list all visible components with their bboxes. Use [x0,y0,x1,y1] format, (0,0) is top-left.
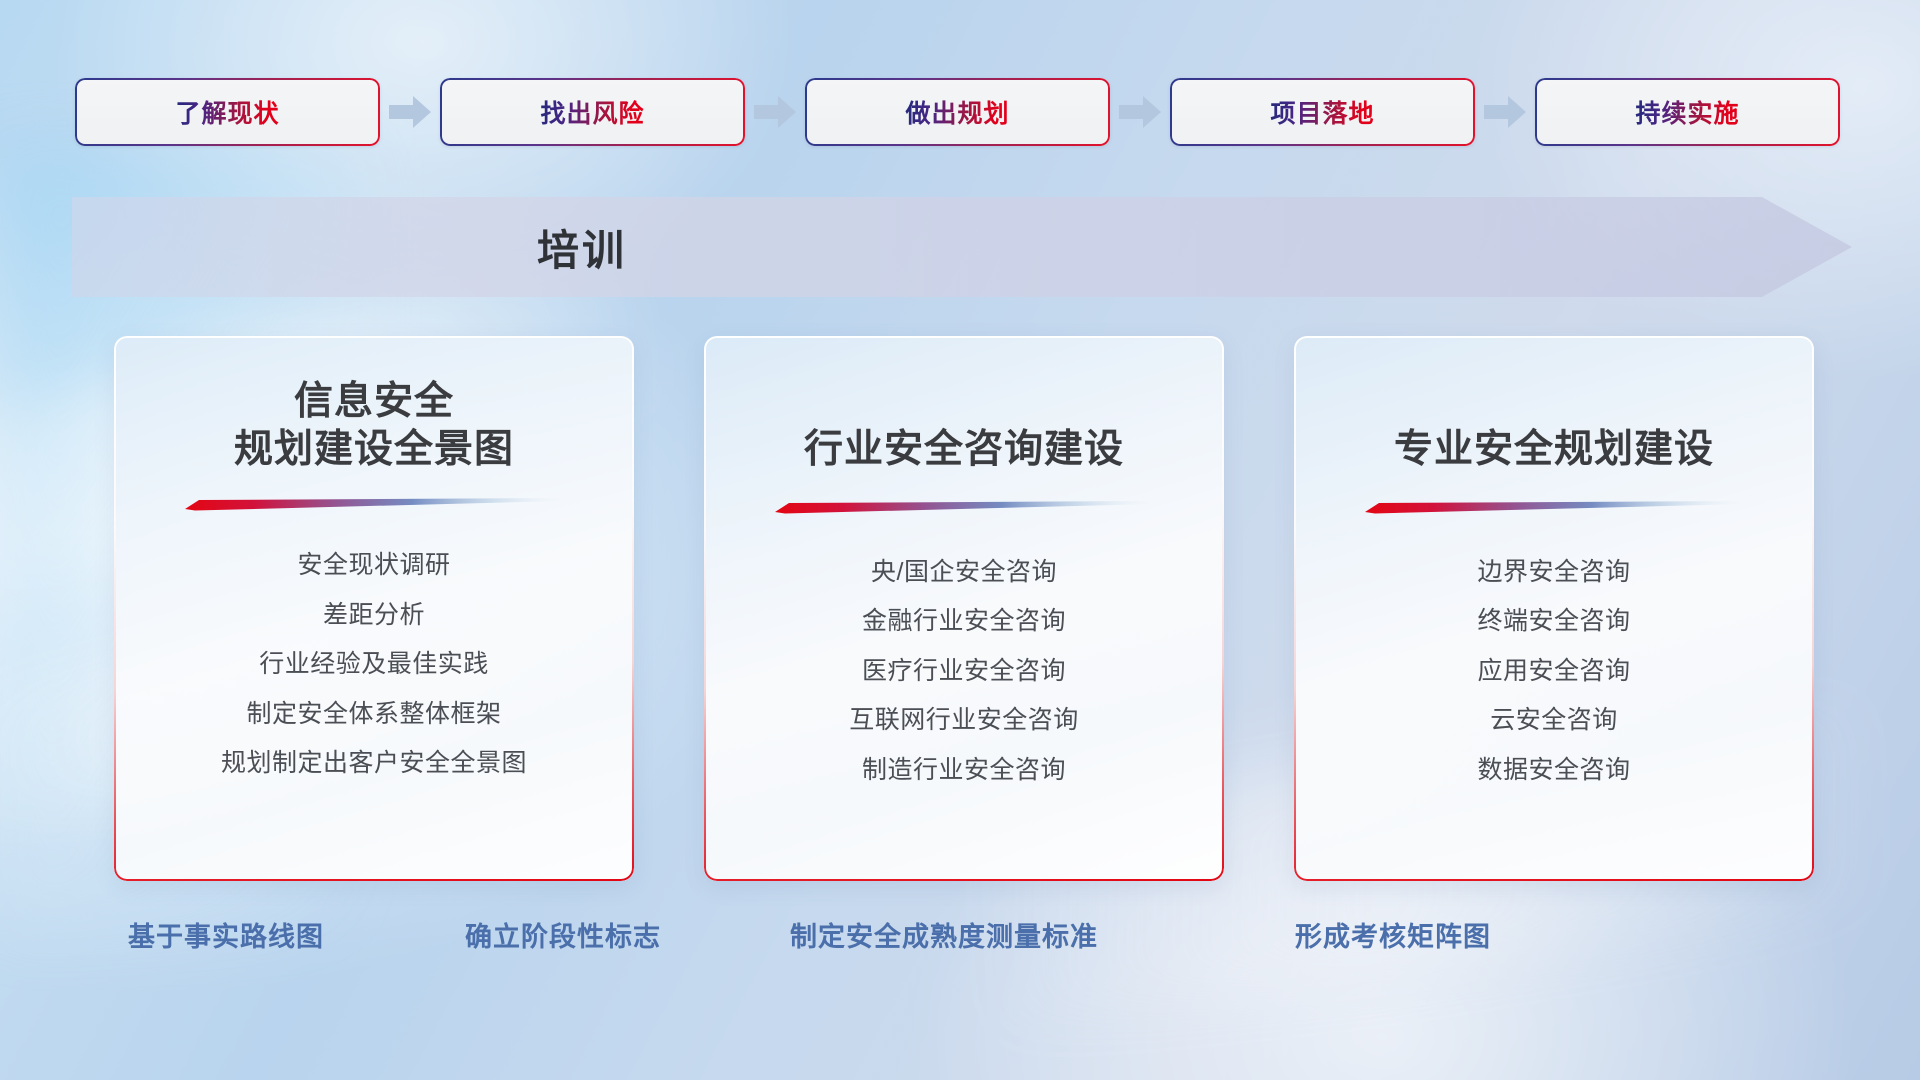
card-item-list: 央/国企安全咨询金融行业安全咨询医疗行业安全咨询互联网行业安全咨询制造行业安全咨… [730,552,1198,791]
card-inner: 行业安全咨询建设央/国企安全咨询金融行业安全咨询医疗行业安全咨询互联网行业安全咨… [704,336,1224,881]
step-label: 了解现状 [175,94,279,130]
right-arrow-icon [1484,96,1526,128]
card-title: 行业安全咨询建设 [804,378,1124,474]
right-arrow-icon [1119,96,1161,128]
step-box-4[interactable]: 项目落地 [1170,78,1475,146]
card-inner: 专业安全规划建设边界安全咨询终端安全咨询应用安全咨询云安全咨询数据安全咨询 [1294,336,1814,881]
card-2[interactable]: 行业安全咨询建设央/国企安全咨询金融行业安全咨询医疗行业安全咨询互联网行业安全咨… [704,336,1224,881]
list-item: 差距分析 [323,595,425,636]
card-item-list: 安全现状调研差距分析行业经验及最佳实践制定安全体系整体框架规划制定出客户安全全景… [140,545,608,784]
card-divider [1365,500,1743,514]
list-item: 行业经验及最佳实践 [259,644,489,685]
list-item: 医疗行业安全咨询 [862,651,1066,692]
step-label: 做出规划 [905,94,1009,130]
list-item: 央/国企安全咨询 [871,552,1057,593]
caption-1: 基于事实路线图 [128,915,324,954]
card-divider [185,497,563,511]
step-arrow-4 [1475,78,1535,146]
card-title: 专业安全规划建设 [1394,378,1714,474]
step-label: 持续实施 [1635,94,1739,130]
card-spacer [1224,336,1294,881]
card-divider [775,500,1153,514]
step-label: 找出风险 [540,94,644,130]
list-item: 云安全咨询 [1490,700,1618,741]
card-spacer [634,336,704,881]
list-item: 互联网行业安全咨询 [849,700,1079,741]
step-box-5[interactable]: 持续实施 [1535,78,1840,146]
gradient-rule-icon [185,497,563,511]
card-inner: 信息安全 规划建设全景图安全现状调研差距分析行业经验及最佳实践制定安全体系整体框… [114,336,634,881]
step-arrow-3 [1110,78,1170,146]
step-label: 项目落地 [1270,94,1374,130]
card-1[interactable]: 信息安全 规划建设全景图安全现状调研差距分析行业经验及最佳实践制定安全体系整体框… [114,336,634,881]
caption-2: 确立阶段性标志 [465,915,661,954]
caption-row: 基于事实路线图确立阶段性标志制定安全成熟度测量标准形成考核矩阵图 [0,915,1920,967]
list-item: 金融行业安全咨询 [862,601,1066,642]
card-3[interactable]: 专业安全规划建设边界安全咨询终端安全咨询应用安全咨询云安全咨询数据安全咨询 [1294,336,1814,881]
process-step-flow: 了解现状找出风险做出规划项目落地持续实施 [75,78,1850,146]
card-item-list: 边界安全咨询终端安全咨询应用安全咨询云安全咨询数据安全咨询 [1320,552,1788,791]
step-arrow-2 [745,78,805,146]
step-box-2[interactable]: 找出风险 [440,78,745,146]
caption-3: 制定安全成熟度测量标准 [790,915,1098,954]
step-arrow-1 [380,78,440,146]
step-box-1[interactable]: 了解现状 [75,78,380,146]
list-item: 终端安全咨询 [1477,601,1630,642]
list-item: 制造行业安全咨询 [862,750,1066,791]
list-item: 边界安全咨询 [1477,552,1630,593]
list-item: 应用安全咨询 [1477,651,1630,692]
list-item: 规划制定出客户安全全景图 [221,743,527,784]
list-item: 制定安全体系整体框架 [246,694,501,735]
right-arrow-icon [389,96,431,128]
step-box-3[interactable]: 做出规划 [805,78,1110,146]
right-arrow-icon [754,96,796,128]
card-title: 信息安全 规划建设全景图 [234,378,514,473]
list-item: 数据安全咨询 [1477,750,1630,791]
gradient-rule-icon [775,500,1153,514]
banner-title: 培训 [72,197,1852,297]
training-banner: 培训 [72,197,1852,297]
caption-4: 形成考核矩阵图 [1295,915,1491,954]
gradient-rule-icon [1365,500,1743,514]
card-group: 信息安全 规划建设全景图安全现状调研差距分析行业经验及最佳实践制定安全体系整体框… [114,336,1814,881]
list-item: 安全现状调研 [297,545,450,586]
